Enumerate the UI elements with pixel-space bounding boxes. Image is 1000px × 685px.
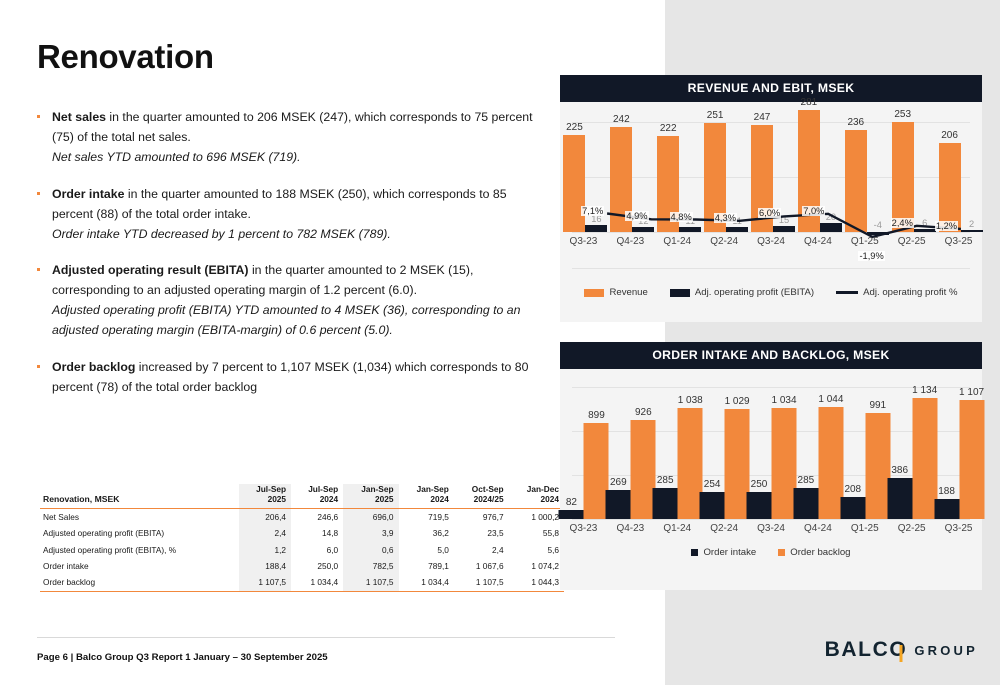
order-intake-bar <box>606 490 631 519</box>
table-cell: 1 000,2 <box>509 508 564 525</box>
order-intake-bar <box>559 510 584 519</box>
table-col-header: Jul-Sep 2025 <box>239 484 291 508</box>
table-cell: 1 034,4 <box>291 574 343 591</box>
ebita-percent-label: 1,2% <box>935 221 958 231</box>
table-row-header: Renovation, MSEK <box>40 484 239 508</box>
table-cell: 719,5 <box>399 508 454 525</box>
chart-column: 2851 038 <box>654 369 701 519</box>
chart-column: 82899 <box>560 369 607 519</box>
table-cell: 36,2 <box>399 525 454 541</box>
bullet-lead: Adjusted operating result (EBITA) <box>52 263 249 277</box>
table-cell: 1 044,3 <box>509 574 564 591</box>
order-intake-value-label: 285 <box>798 475 815 486</box>
chart-revenue-title: REVENUE AND EBIT, MSEK <box>560 75 982 102</box>
table-row: Net Sales206,4246,6696,0719,5976,71 000,… <box>40 508 564 525</box>
order-intake-value-label: 285 <box>657 475 674 486</box>
table-row-label: Order intake <box>40 558 239 574</box>
x-axis-tick: Q2-24 <box>701 236 748 247</box>
x-axis-tick: Q4-23 <box>607 523 654 534</box>
table-cell: 1 107,5 <box>454 574 509 591</box>
table-cell: 1 107,5 <box>239 574 291 591</box>
ebita-percent-label: 4,3% <box>714 213 737 223</box>
order-intake-bar <box>934 499 959 519</box>
order-intake-bar <box>793 488 818 519</box>
legend-item[interactable]: Adj. operating profit % <box>836 287 957 298</box>
ebita-percent-label: 6,0% <box>758 208 781 218</box>
footer-divider <box>37 637 615 638</box>
bullet-dot-icon <box>37 192 40 195</box>
order-intake-value-label: 386 <box>891 465 908 476</box>
table-cell: 14,8 <box>291 525 343 541</box>
x-axis-tick: Q1-24 <box>654 523 701 534</box>
table-cell: 782,5 <box>343 558 398 574</box>
table-col-header: Jan-Dec 2024 <box>509 484 564 508</box>
chart-column: 269926 <box>607 369 654 519</box>
table-row-label: Net Sales <box>40 508 239 525</box>
logo-divider-bar <box>900 645 903 662</box>
chart-column: 3861 134 <box>888 369 935 519</box>
ebita-percent-label: 4,9% <box>625 211 648 221</box>
table-cell: 246,6 <box>291 508 343 525</box>
table-cell: 250,0 <box>291 558 343 574</box>
chart-column: 1881 107 <box>935 369 982 519</box>
order-backlog-value-label: 1 134 <box>912 385 937 396</box>
x-axis-tick: Q3-25 <box>935 523 982 534</box>
legend-label: Revenue <box>609 287 647 298</box>
table-cell: 188,4 <box>239 558 291 574</box>
bullet-dot-icon <box>37 365 40 368</box>
chart-column: 2851 044 <box>794 369 841 519</box>
bullet-italic-note: Order intake YTD decreased by 1 percent … <box>52 225 534 245</box>
financial-table: Renovation, MSEK Jul-Sep 2025Jul-Sep 202… <box>40 484 564 592</box>
legend-swatch-icon <box>584 289 604 297</box>
table-cell: 5,0 <box>399 541 454 557</box>
ebita-percent-label: -1,9% <box>858 251 884 261</box>
bullet-dot-icon <box>37 115 40 118</box>
legend-label: Order intake <box>703 547 756 558</box>
legend-swatch-icon <box>778 549 785 556</box>
table-row: Adjusted operating profit (EBITA), %1,26… <box>40 541 564 557</box>
table-cell: 23,5 <box>454 525 509 541</box>
legend-item[interactable]: Adj. operating profit (EBITA) <box>670 287 814 298</box>
x-axis-tick: Q3-25 <box>935 236 982 247</box>
bullet-text: Net sales in the quarter amounted to 206… <box>52 108 534 168</box>
chart-order-intake-and-backlog: ORDER INTAKE AND BACKLOG, MSEK 828992699… <box>560 342 982 590</box>
order-backlog-value-label: 1 044 <box>818 394 843 405</box>
table-cell: 5,6 <box>509 541 564 557</box>
table-cell: 1 034,4 <box>399 574 454 591</box>
bullet-dot-icon <box>37 268 40 271</box>
ebita-percent-label: 4,8% <box>670 212 693 222</box>
order-intake-value-label: 254 <box>704 479 721 490</box>
bullet-item: Order intake in the quarter amounted to … <box>34 185 534 245</box>
slide: Renovation Net sales in the quarter amou… <box>0 0 1000 685</box>
table-cell: 1 074,2 <box>509 558 564 574</box>
x-axis-tick: Q1-24 <box>654 236 701 247</box>
table-cell: 55,8 <box>509 525 564 541</box>
chart-column: 2501 034 <box>748 369 795 519</box>
table-cell: 1 107,5 <box>343 574 398 591</box>
table-cell: 206,4 <box>239 508 291 525</box>
bullet-text: Order intake in the quarter amounted to … <box>52 185 534 245</box>
x-axis-tick: Q1-25 <box>841 523 888 534</box>
ebita-percent-label: 7,0% <box>802 206 825 216</box>
table-col-header: Jan-Sep 2025 <box>343 484 398 508</box>
table-row: Adjusted operating profit (EBITA)2,414,8… <box>40 525 564 541</box>
ebita-percent-label: 2,4% <box>891 218 914 228</box>
table-cell: 2,4 <box>239 525 291 541</box>
x-axis-tick: Q2-25 <box>888 236 935 247</box>
bullet-lead: Net sales <box>52 110 106 124</box>
bullet-item: Adjusted operating result (EBITA) in the… <box>34 261 534 341</box>
bullet-lead: Order backlog <box>52 360 135 374</box>
page-title: Renovation <box>37 38 214 76</box>
order-backlog-value-label: 1 029 <box>725 396 750 407</box>
table-row-label: Order backlog <box>40 574 239 591</box>
order-intake-value-label: 269 <box>610 477 627 488</box>
table-cell: 696,0 <box>343 508 398 525</box>
order-backlog-value-label: 991 <box>869 400 886 411</box>
legend-swatch-icon <box>691 549 698 556</box>
chart-column: 2541 029 <box>701 369 748 519</box>
chart-revenue-and-ebit: REVENUE AND EBIT, MSEK 22516242122221125… <box>560 75 982 322</box>
table-cell: 3,9 <box>343 525 398 541</box>
table-cell: 6,0 <box>291 541 343 557</box>
x-axis-tick: Q2-25 <box>888 523 935 534</box>
order-intake-value-label: 188 <box>938 486 955 497</box>
table-row-label: Adjusted operating profit (EBITA), % <box>40 541 239 557</box>
bullet-italic-note: Net sales YTD amounted to 696 MSEK (719)… <box>52 148 534 168</box>
logo-balco-text: BALCO <box>825 638 908 662</box>
legend-item[interactable]: Order backlog <box>778 547 850 558</box>
table-col-header: Jan-Sep 2024 <box>399 484 454 508</box>
order-backlog-value-label: 1 038 <box>678 395 703 406</box>
footer-text: Page 6 | Balco Group Q3 Report 1 January… <box>37 652 328 663</box>
legend-swatch-icon <box>836 291 858 294</box>
bullet-text: Order backlog increased by 7 percent to … <box>52 358 534 398</box>
legend-label: Adj. operating profit (EBITA) <box>695 287 814 298</box>
chart-column: 208991 <box>841 369 888 519</box>
x-axis-tick: Q3-24 <box>748 523 795 534</box>
x-axis-tick: Q1-25 <box>841 236 888 247</box>
order-backlog-value-label: 1 107 <box>959 387 984 398</box>
balco-group-logo: BALCO GROUP <box>825 638 978 662</box>
legend-label: Adj. operating profit % <box>863 287 957 298</box>
bullet-list: Net sales in the quarter amounted to 206… <box>34 108 534 415</box>
legend-swatch-icon <box>670 289 690 297</box>
bullet-text: Adjusted operating result (EBITA) in the… <box>52 261 534 341</box>
order-backlog-bar <box>959 400 984 519</box>
order-intake-bar <box>887 478 912 519</box>
table-cell: 976,7 <box>454 508 509 525</box>
order-backlog-value-label: 899 <box>588 410 605 421</box>
order-intake-bar <box>747 492 772 519</box>
x-axis-tick: Q4-24 <box>794 523 841 534</box>
table-cell: 1,2 <box>239 541 291 557</box>
table-cell: 789,1 <box>399 558 454 574</box>
bullet-italic-note: Adjusted operating profit (EBITA) YTD am… <box>52 301 534 341</box>
x-axis-tick: Q4-23 <box>607 236 654 247</box>
legend-item[interactable]: Order intake <box>691 547 756 558</box>
ebita-percent-label: 7,1% <box>581 206 604 216</box>
table-row-label: Adjusted operating profit (EBITA) <box>40 525 239 541</box>
bullet-item: Order backlog increased by 7 percent to … <box>34 358 534 398</box>
bullet-item: Net sales in the quarter amounted to 206… <box>34 108 534 168</box>
order-intake-bar <box>840 497 865 519</box>
order-intake-value-label: 250 <box>751 479 768 490</box>
order-intake-value-label: 82 <box>566 497 577 508</box>
legend-label: Order backlog <box>790 547 850 558</box>
legend-item[interactable]: Revenue <box>584 287 647 298</box>
logo-group-text: GROUP <box>914 643 978 658</box>
x-axis-tick: Q2-24 <box>701 523 748 534</box>
table-row: Order intake188,4250,0782,5789,11 067,61… <box>40 558 564 574</box>
table-cell: 0,6 <box>343 541 398 557</box>
x-axis-tick: Q3-23 <box>560 236 607 247</box>
order-intake-bar <box>653 488 678 519</box>
table-cell: 2,4 <box>454 541 509 557</box>
bullet-lead: Order intake <box>52 187 124 201</box>
table-col-header: Oct-Sep 2024/25 <box>454 484 509 508</box>
order-intake-bar <box>700 492 725 519</box>
x-axis-tick: Q3-24 <box>748 236 795 247</box>
order-backlog-value-label: 1 034 <box>771 395 796 406</box>
table-cell: 1 067,6 <box>454 558 509 574</box>
chart-order-title: ORDER INTAKE AND BACKLOG, MSEK <box>560 342 982 369</box>
order-intake-value-label: 208 <box>844 484 861 495</box>
x-axis-tick: Q4-24 <box>794 236 841 247</box>
x-axis-tick: Q3-23 <box>560 523 607 534</box>
table-col-header: Jul-Sep 2024 <box>291 484 343 508</box>
table-row: Order backlog1 107,51 034,41 107,51 034,… <box>40 574 564 591</box>
order-backlog-value-label: 926 <box>635 407 652 418</box>
